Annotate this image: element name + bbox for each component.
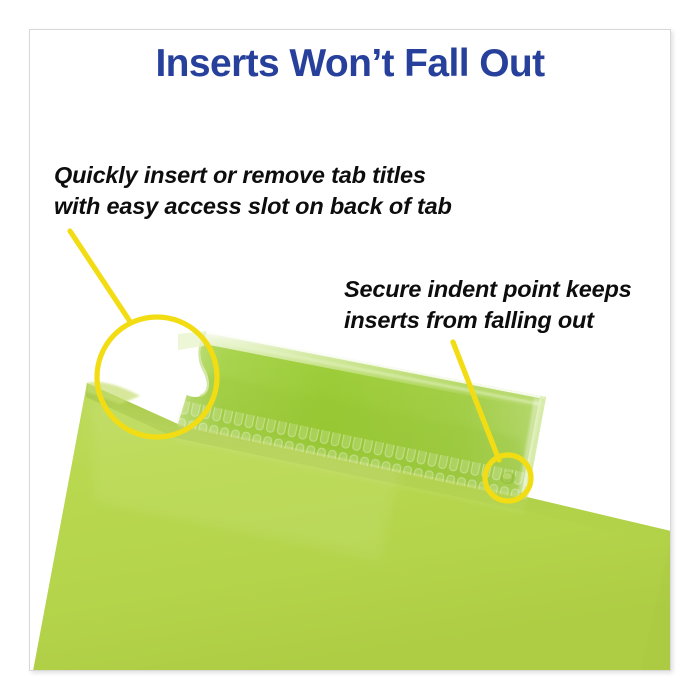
callout-line: with easy access slot on back of tab: [54, 191, 452, 222]
callout-line: Quickly insert or remove tab titles: [54, 160, 452, 191]
callout-line: Secure indent point keeps: [344, 274, 632, 305]
callout-label-indent-point: Secure indent point keeps inserts from f…: [344, 274, 632, 337]
callout-line: inserts from falling out: [344, 305, 632, 336]
product-photo-frame: [29, 29, 671, 671]
callout-label-access-slot: Quickly insert or remove tab titles with…: [54, 160, 452, 223]
page-title: Inserts Won’t Fall Out: [0, 44, 700, 85]
image-canvas: Inserts Won’t Fall Out Quickly insert or…: [0, 0, 700, 700]
